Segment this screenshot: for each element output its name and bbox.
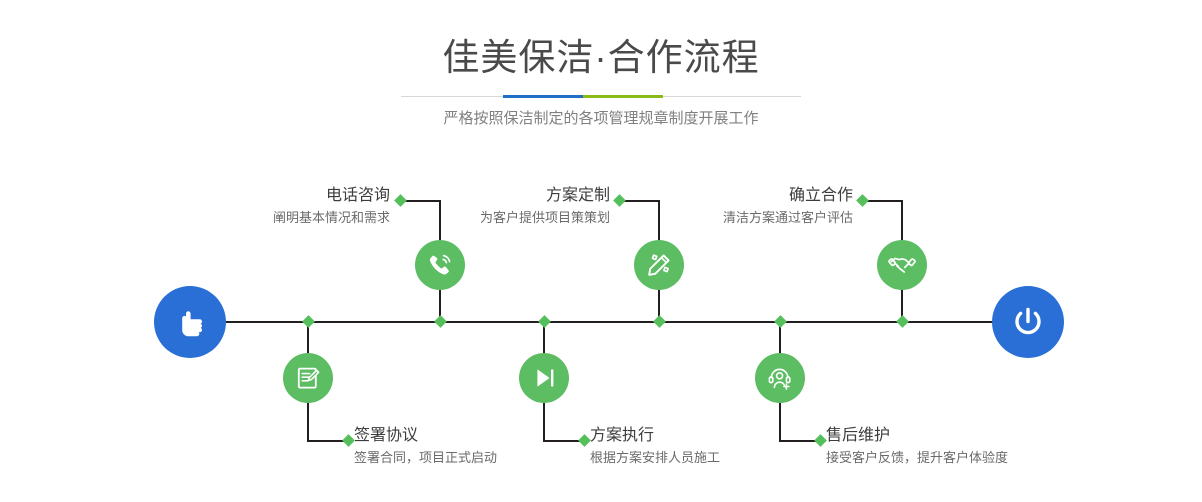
step-title-4: 方案执行	[590, 426, 850, 446]
node-icon-step-2	[283, 353, 333, 403]
step-desc-6: 接受客户反馈，提升客户体验度	[826, 448, 1106, 468]
node-icon-step-1	[415, 240, 465, 290]
customer-service-add-icon	[766, 364, 794, 392]
step-label-2: 签署协议 签署合同，项目正式启动	[354, 426, 614, 468]
timeline: 电话咨询 阐明基本情况和需求 签署协议 签署合同，项目正式启动	[0, 0, 1202, 502]
diamond-marker-step-5-label	[856, 194, 869, 207]
step-label-5: 确立合作 清洁方案通过客户评估	[613, 186, 853, 228]
process-flow-infographic: 佳美保洁·合作流程 严格按照保洁制定的各项管理规章制度开展工作	[0, 0, 1202, 502]
step-label-6: 售后维护 接受客户反馈，提升客户体验度	[826, 426, 1106, 468]
step-title-6: 售后维护	[826, 426, 1106, 446]
play-execute-icon	[530, 364, 558, 392]
step-desc-1: 阐明基本情况和需求	[150, 208, 390, 228]
timeline-end-endpoint	[992, 286, 1064, 358]
step-desc-3: 为客户提供项目策策划	[370, 208, 610, 228]
diamond-marker-step-4-axis	[538, 315, 551, 328]
step-desc-2: 签署合同，项目正式启动	[354, 448, 614, 468]
step-desc-5: 清洁方案通过客户评估	[613, 208, 853, 228]
phone-call-icon	[426, 251, 454, 279]
handshake-icon	[888, 251, 916, 279]
node-icon-step-6	[755, 353, 805, 403]
step-desc-4: 根据方案安排人员施工	[590, 448, 850, 468]
step-title-5: 确立合作	[613, 186, 853, 206]
step-title-2: 签署协议	[354, 426, 614, 446]
timeline-start-endpoint	[154, 286, 226, 358]
diamond-marker-step-2-axis	[302, 315, 315, 328]
diamond-marker-step-6-axis	[774, 315, 787, 328]
power-button-icon	[1009, 303, 1047, 341]
step-label-4: 方案执行 根据方案安排人员施工	[590, 426, 850, 468]
step-title-3: 方案定制	[370, 186, 610, 206]
node-icon-step-4	[519, 353, 569, 403]
diamond-marker-step-2-label	[342, 434, 355, 447]
diamond-marker-step-5-axis	[896, 315, 909, 328]
pencil-plan-icon	[645, 251, 673, 279]
step-label-1: 电话咨询 阐明基本情况和需求	[150, 186, 390, 228]
diamond-marker-step-1-axis	[434, 315, 447, 328]
step-label-3: 方案定制 为客户提供项目策策划	[370, 186, 610, 228]
diamond-marker-step-3-axis	[653, 315, 666, 328]
node-icon-step-5	[877, 240, 927, 290]
step-title-1: 电话咨询	[150, 186, 390, 206]
pointing-hand-icon	[173, 305, 207, 339]
sign-document-icon	[294, 364, 322, 392]
node-icon-step-3	[634, 240, 684, 290]
